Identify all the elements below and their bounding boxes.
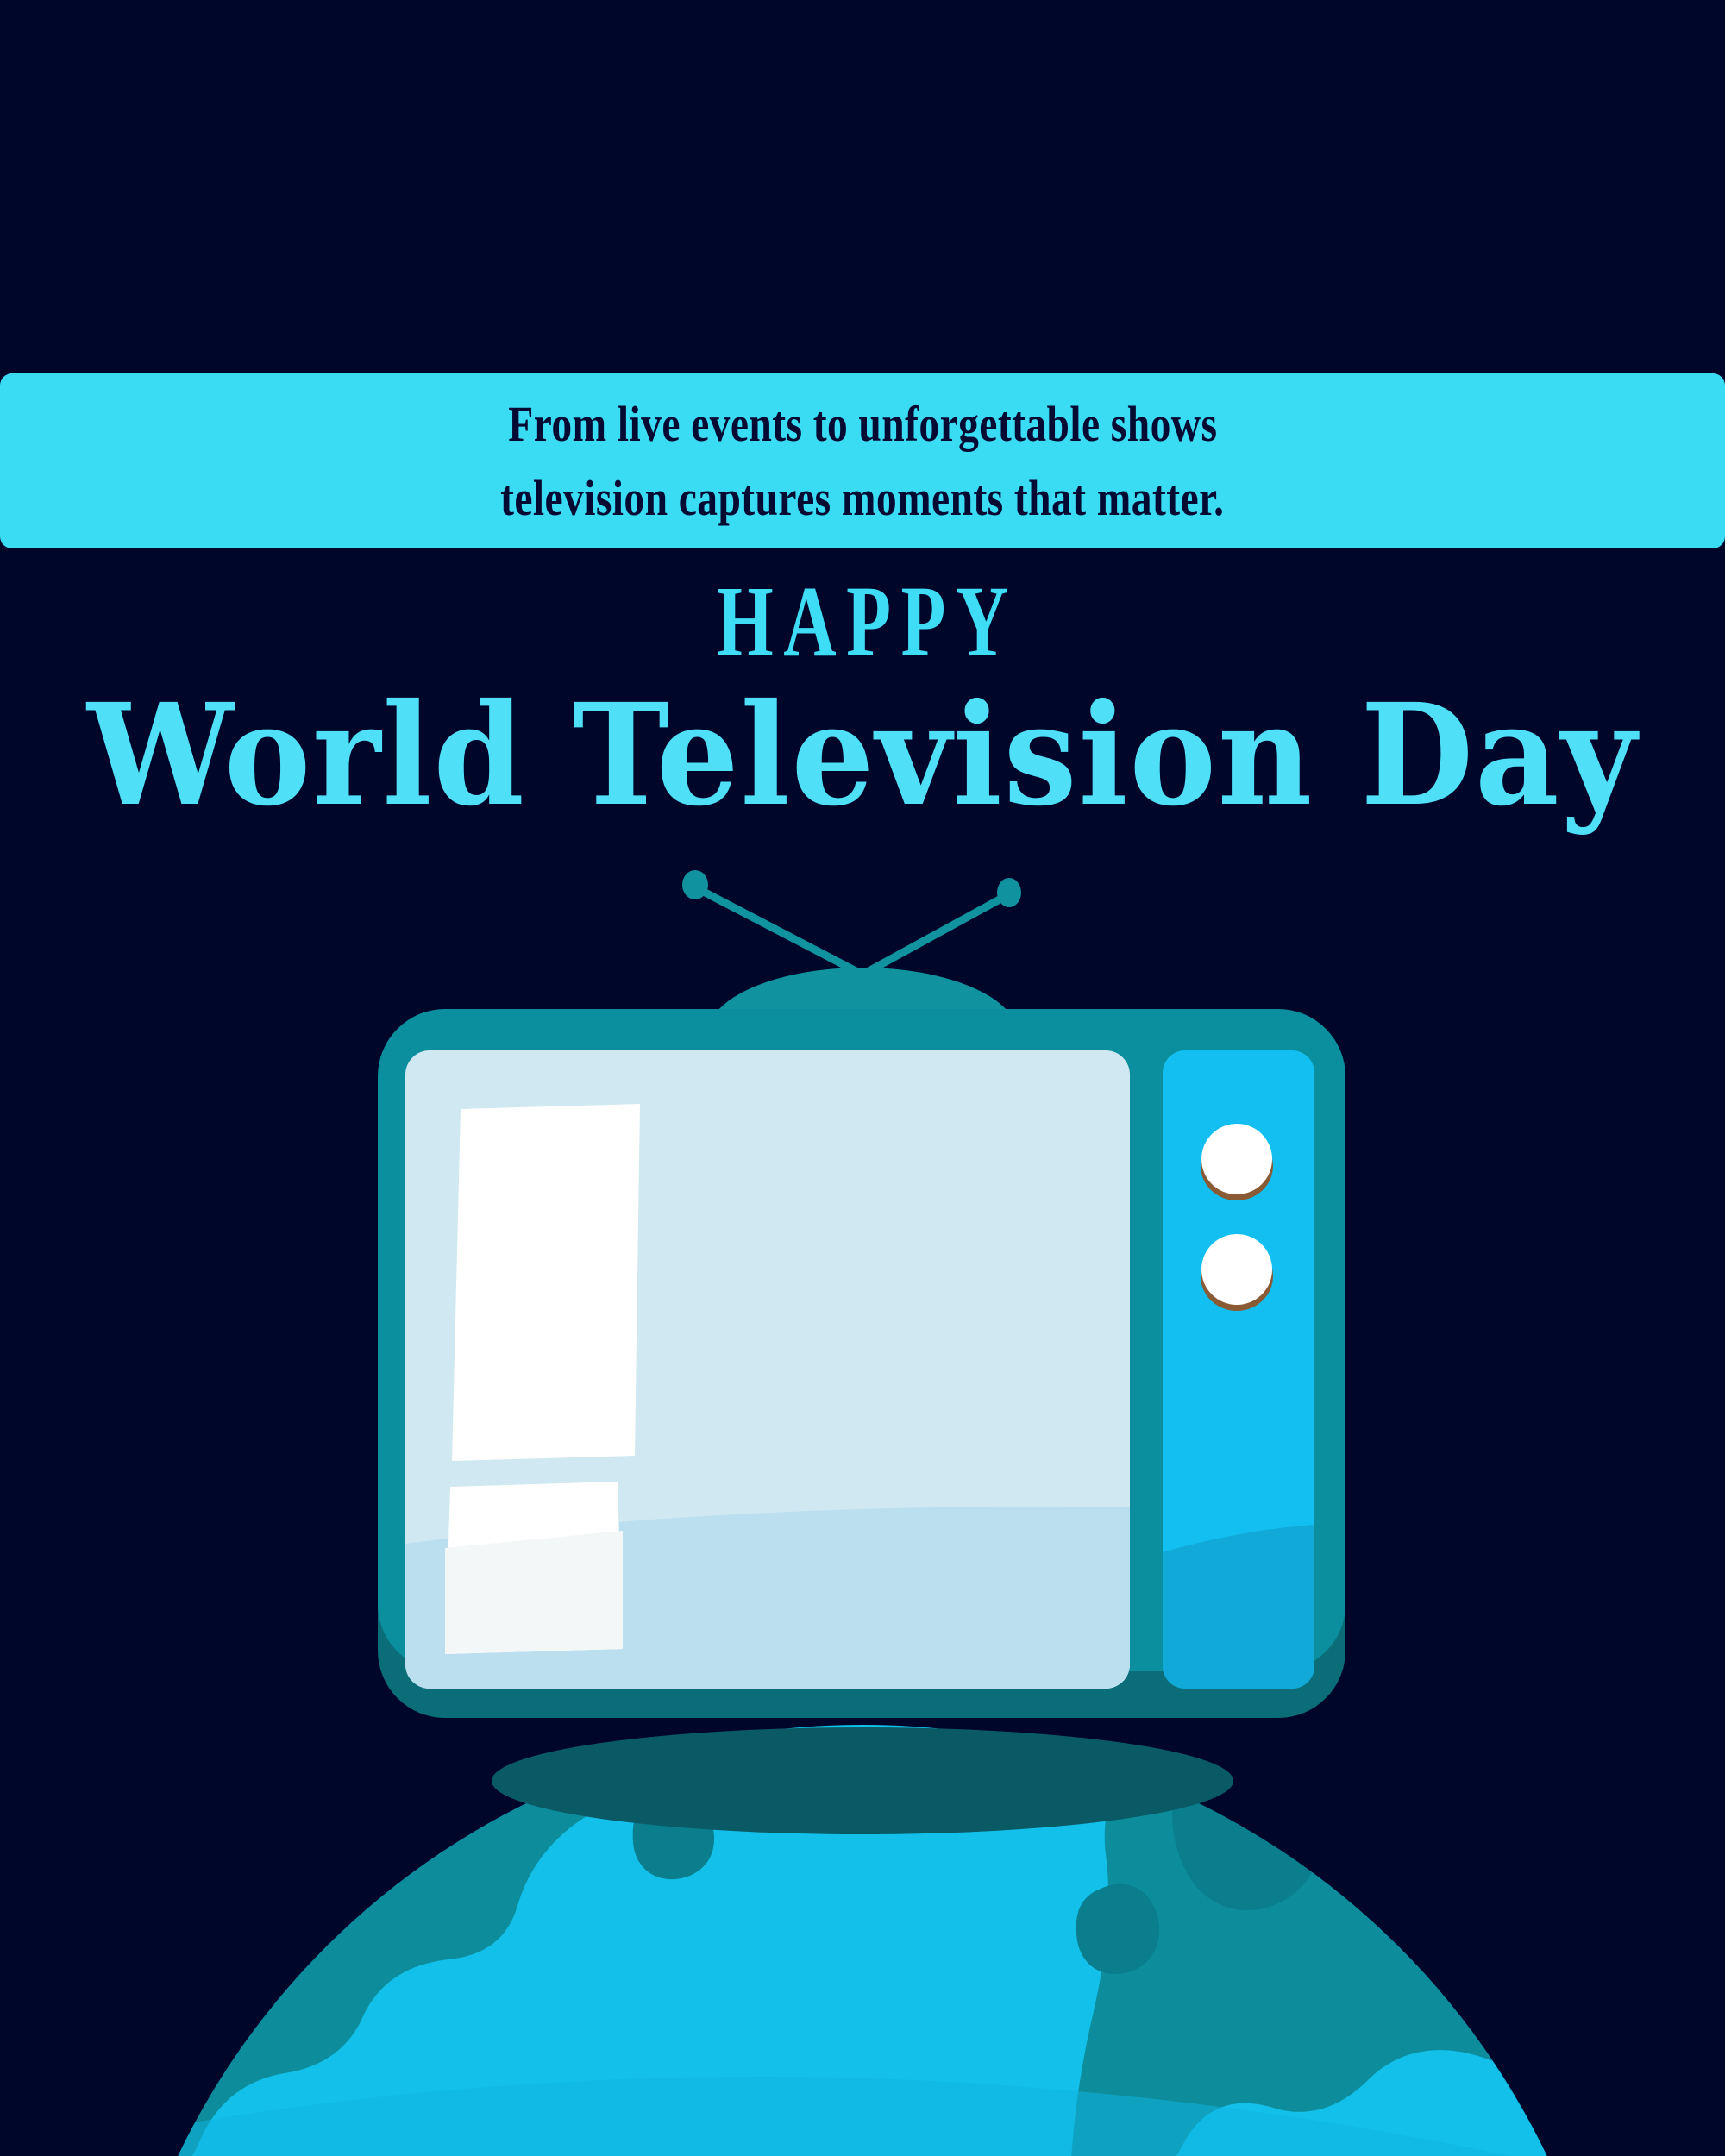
antenna-right-tip-icon bbox=[997, 878, 1021, 907]
headline-kicker: HAPPY bbox=[241, 569, 1483, 674]
tagline-banner: From live events to unforgettable shows … bbox=[0, 373, 1725, 548]
antenna-right-rod bbox=[862, 895, 1007, 975]
tv-drop-shadow bbox=[492, 1727, 1233, 1834]
land-island-b bbox=[1076, 1884, 1159, 1974]
tagline-line-2: television captures moments that matter. bbox=[500, 461, 1224, 536]
page-title: World Television Day bbox=[60, 680, 1665, 831]
antenna-left-tip-icon bbox=[682, 870, 708, 899]
tv-control-panel-contents bbox=[1163, 1525, 1314, 1699]
tagline-line-1: From live events to unforgettable shows bbox=[508, 387, 1217, 461]
tv-antennas bbox=[682, 870, 1021, 975]
knob-bottom[interactable] bbox=[1201, 1234, 1272, 1305]
screen-highlight-primary bbox=[452, 1104, 640, 1461]
land-island-d bbox=[155, 1785, 362, 1894]
panel-sheen bbox=[1163, 1525, 1314, 1699]
antenna-left-rod bbox=[697, 888, 862, 975]
illustration bbox=[0, 0, 1725, 2156]
land-east-inlet bbox=[1466, 1915, 1585, 2015]
tv-body bbox=[378, 1009, 1345, 1718]
headline-block: HAPPY World Television Day bbox=[0, 569, 1725, 831]
globe bbox=[52, 1725, 1621, 2156]
knob-top[interactable] bbox=[1201, 1124, 1272, 1194]
poster-canvas: From live events to unforgettable shows … bbox=[0, 0, 1725, 2156]
land-west-spur bbox=[52, 2018, 154, 2156]
screen-highlight-secondary-shade bbox=[445, 1531, 623, 1654]
